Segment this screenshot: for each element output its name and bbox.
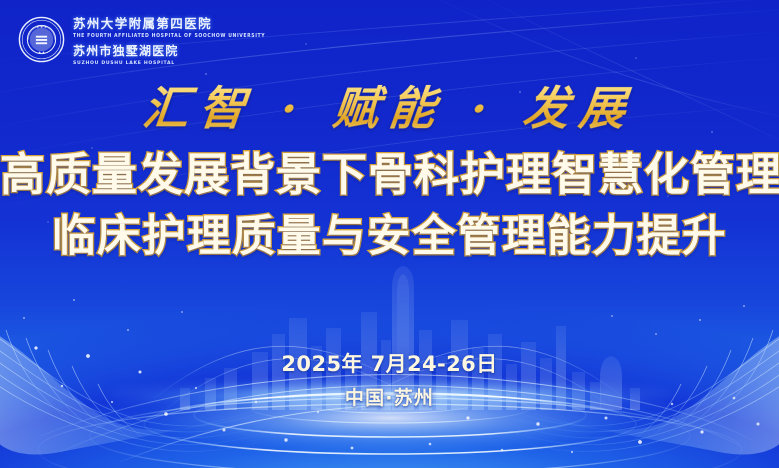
event-place: 中国·苏州 [0,383,779,410]
slogan-calligraphy: 汇智 · 赋能 · 发展 [0,72,779,138]
event-meta: 2025年 7月24-26日 中国·苏州 [0,348,779,410]
logo-hospital-name-en: THE FOURTH AFFILIATED HOSPITAL OF SOOCHO… [73,34,265,39]
event-date: 2025年 7月24-26日 [0,348,779,378]
hospital-logo: ★ ★ ★ ★ ★ 苏州大学附属第四医院 THE FOURTH AFFILIAT… [18,13,265,66]
page-title: 高质量发展背景下骨科护理智慧化管理 临床护理质量与安全管理能力提升 [0,143,779,269]
headline-line-2: 临床护理质量与安全管理能力提升 [0,206,779,269]
logo-hospital-alt-en: SUZHOU DUSHU LAKE HOSPITAL [73,61,265,66]
conference-banner: ★ ★ ★ ★ ★ 苏州大学附属第四医院 THE FOURTH AFFILIAT… [0,0,779,468]
headline-line-1: 高质量发展背景下骨科护理智慧化管理 [0,143,779,206]
logo-hospital-name-cn: 苏州大学附属第四医院 [73,13,265,32]
svg-text:★ ★: ★ ★ [38,51,45,55]
svg-text:★ ★ ★: ★ ★ ★ [36,25,47,29]
logo-hospital-alt-cn: 苏州市独墅湖医院 [73,42,265,59]
university-crest-icon: ★ ★ ★ ★ ★ [18,16,65,63]
